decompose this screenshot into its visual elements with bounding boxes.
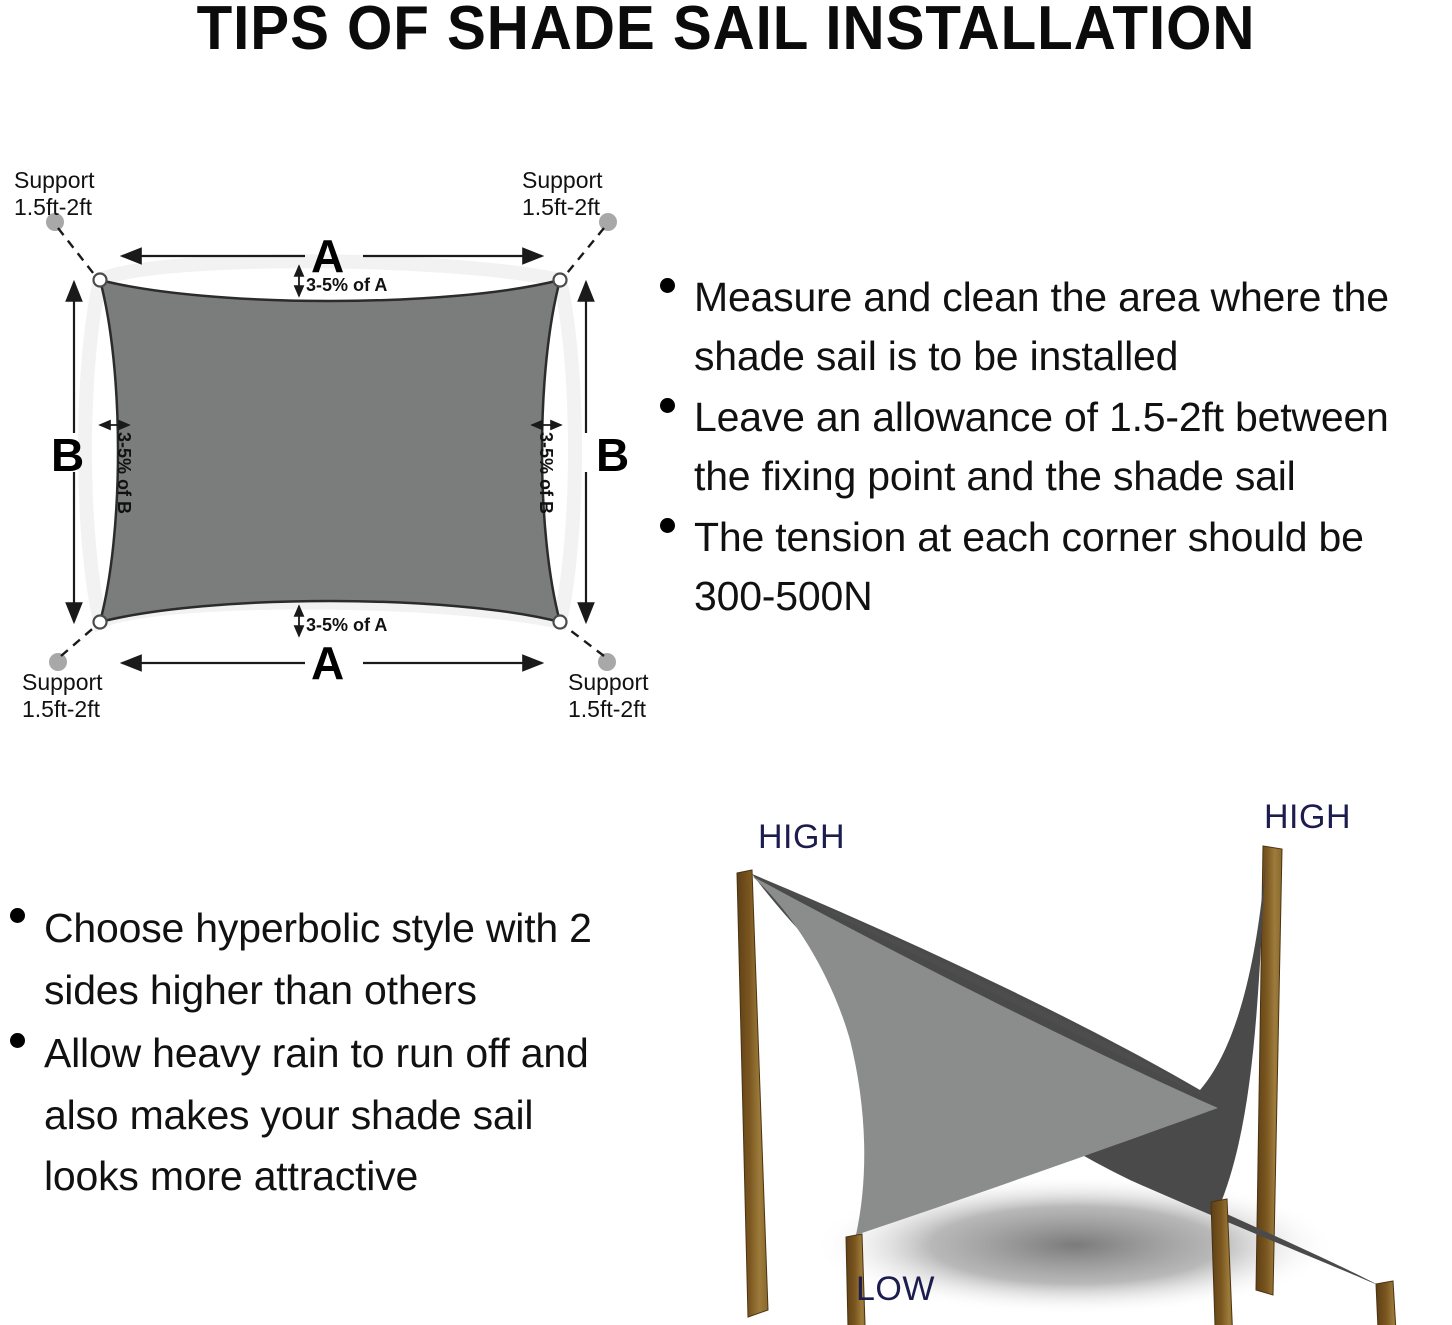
- bullet-dot-icon: [660, 278, 675, 293]
- dimension-label-height-right: B: [596, 429, 629, 481]
- support-label-bottom-right-line2: 1.5ft-2ft: [568, 696, 647, 722]
- list-item: Measure and clean the area where the sha…: [650, 268, 1450, 386]
- tie-line-top-right: [563, 228, 604, 278]
- bullet-dot-icon: [660, 398, 675, 413]
- curve-label-left: 3-5% of B: [114, 432, 134, 514]
- tips-list-install: Measure and clean the area where the sha…: [650, 268, 1450, 628]
- post-low-right: [1376, 1281, 1401, 1325]
- grommet-bottom-right: [554, 616, 567, 629]
- support-label-top-left-line2: 1.5ft-2ft: [14, 194, 93, 220]
- grommet-top-right: [554, 274, 567, 287]
- hyperbolic-sail-svg: HIGH HIGH LOW LOW: [660, 790, 1452, 1325]
- shade-sail-shape: [100, 280, 560, 622]
- support-label-top-right-line1: Support: [522, 167, 603, 193]
- list-item-label: Choose hyperbolic style with 2 sides hig…: [44, 898, 630, 1021]
- dimension-label-height-left: B: [51, 429, 84, 481]
- dimension-label-width-bottom: A: [311, 637, 344, 689]
- post-high-left: [737, 870, 768, 1317]
- bullet-dot-icon: [10, 1033, 25, 1048]
- list-item: Leave an allowance of 1.5-2ft between th…: [650, 388, 1450, 506]
- hyperbolic-sail-diagram: HIGH HIGH LOW LOW: [660, 790, 1452, 1325]
- page-title: TIPS OF SHADE SAIL INSTALLATION: [44, 0, 1409, 61]
- list-item-label: Leave an allowance of 1.5-2ft between th…: [694, 388, 1450, 506]
- curve-label-right: 3-5% of B: [536, 432, 556, 514]
- list-item: Allow heavy rain to run off and also mak…: [0, 1023, 630, 1208]
- tie-line-top-left: [58, 228, 97, 278]
- tie-line-bottom-right: [562, 624, 604, 656]
- post-label-low-left: LOW: [856, 1270, 935, 1308]
- bullet-dot-icon: [660, 518, 675, 533]
- tie-line-bottom-left: [61, 624, 98, 656]
- support-label-bottom-left-line1: Support: [22, 669, 103, 695]
- post-label-high-right: HIGH: [1264, 798, 1351, 836]
- dimension-diagram-svg: Support 1.5ft-2ft Support 1.5ft-2ft Supp…: [0, 160, 660, 730]
- list-item: Choose hyperbolic style with 2 sides hig…: [0, 898, 630, 1021]
- list-item-label: The tension at each corner should be 300…: [694, 508, 1450, 626]
- list-item-label: Allow heavy rain to run off and also mak…: [44, 1023, 630, 1208]
- infographic-root: TIPS OF SHADE SAIL INSTALLATION: [0, 0, 1452, 1325]
- support-label-bottom-right-line1: Support: [568, 669, 649, 695]
- bullet-dot-icon: [10, 908, 25, 923]
- tips-list-hyperbolic: Choose hyperbolic style with 2 sides hig…: [0, 898, 630, 1210]
- support-label-top-right-line2: 1.5ft-2ft: [522, 194, 601, 220]
- curve-label-bottom: 3-5% of A: [306, 615, 387, 635]
- list-item-label: Measure and clean the area where the sha…: [694, 268, 1450, 386]
- shade-sail-dimension-diagram: Support 1.5ft-2ft Support 1.5ft-2ft Supp…: [0, 160, 660, 730]
- grommet-top-left: [94, 274, 107, 287]
- grommet-bottom-left: [94, 616, 107, 629]
- support-label-bottom-left-line2: 1.5ft-2ft: [22, 696, 101, 722]
- support-label-top-left-line1: Support: [14, 167, 95, 193]
- curve-label-top: 3-5% of A: [306, 275, 387, 295]
- support-dot-top-right: [599, 213, 617, 231]
- list-item: The tension at each corner should be 300…: [650, 508, 1450, 626]
- post-label-high-left: HIGH: [758, 818, 845, 856]
